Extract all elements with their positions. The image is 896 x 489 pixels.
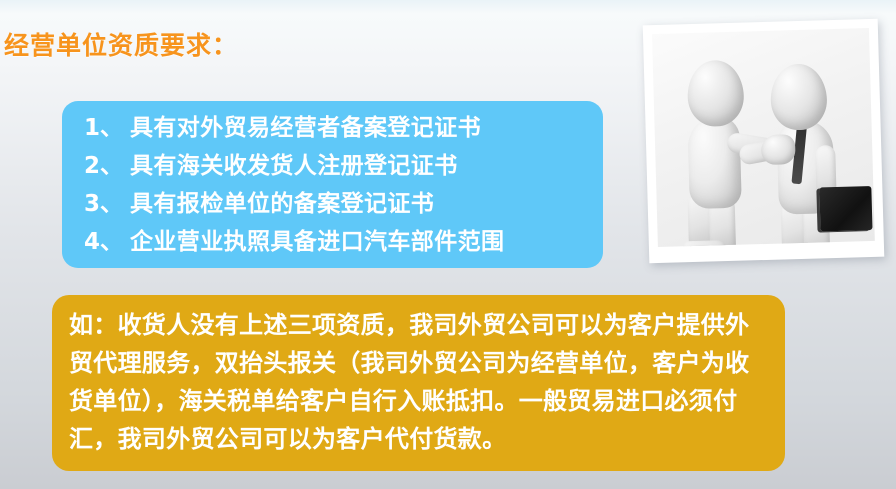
page-title: 经营单位资质要求：	[4, 26, 238, 62]
list-item: 1、 具有对外贸易经营者备案登记证书	[84, 108, 604, 146]
right-figure-foot	[776, 243, 820, 247]
left-figure-torso	[687, 116, 742, 209]
list-item-number: 3、	[84, 184, 130, 218]
list-item: 2、 具有海关收发货人注册登记证书	[84, 146, 604, 184]
list-item-number: 2、	[84, 146, 130, 180]
left-figure-foot	[683, 240, 727, 247]
left-figure-head	[687, 60, 745, 128]
note-panel: 如：收货人没有上述三项资质，我司外贸公司可以为客户提供外贸代理服务，双抬头报关（…	[52, 295, 785, 471]
list-item-number: 4、	[84, 222, 130, 256]
requirements-list: 1、 具有对外贸易经营者备案登记证书 2、 具有海关收发货人注册登记证书 3、 …	[84, 108, 604, 260]
requirements-panel: 1、 具有对外贸易经营者备案登记证书 2、 具有海关收发货人注册登记证书 3、 …	[62, 101, 603, 268]
right-figure-head	[770, 63, 828, 131]
list-item-label: 具有对外贸易经营者备案登记证书	[130, 108, 481, 142]
list-item-label: 具有海关收发货人注册登记证书	[130, 146, 458, 180]
list-item-label: 具有报检单位的备案登记证书	[130, 184, 434, 218]
handshake-illustration-icon	[652, 28, 875, 247]
photo-frame	[643, 19, 885, 263]
list-item-label: 企业营业执照具备进口汽车部件范围	[130, 222, 504, 256]
briefcase-icon	[819, 186, 872, 231]
list-item: 4、 企业营业执照具备进口汽车部件范围	[84, 222, 604, 260]
note-paragraph: 如：收货人没有上述三项资质，我司外贸公司可以为客户提供外贸代理服务，双抬头报关（…	[69, 306, 771, 458]
list-item-number: 1、	[84, 108, 130, 142]
list-item: 3、 具有报检单位的备案登记证书	[84, 184, 604, 222]
clasped-hands-icon	[761, 134, 796, 165]
